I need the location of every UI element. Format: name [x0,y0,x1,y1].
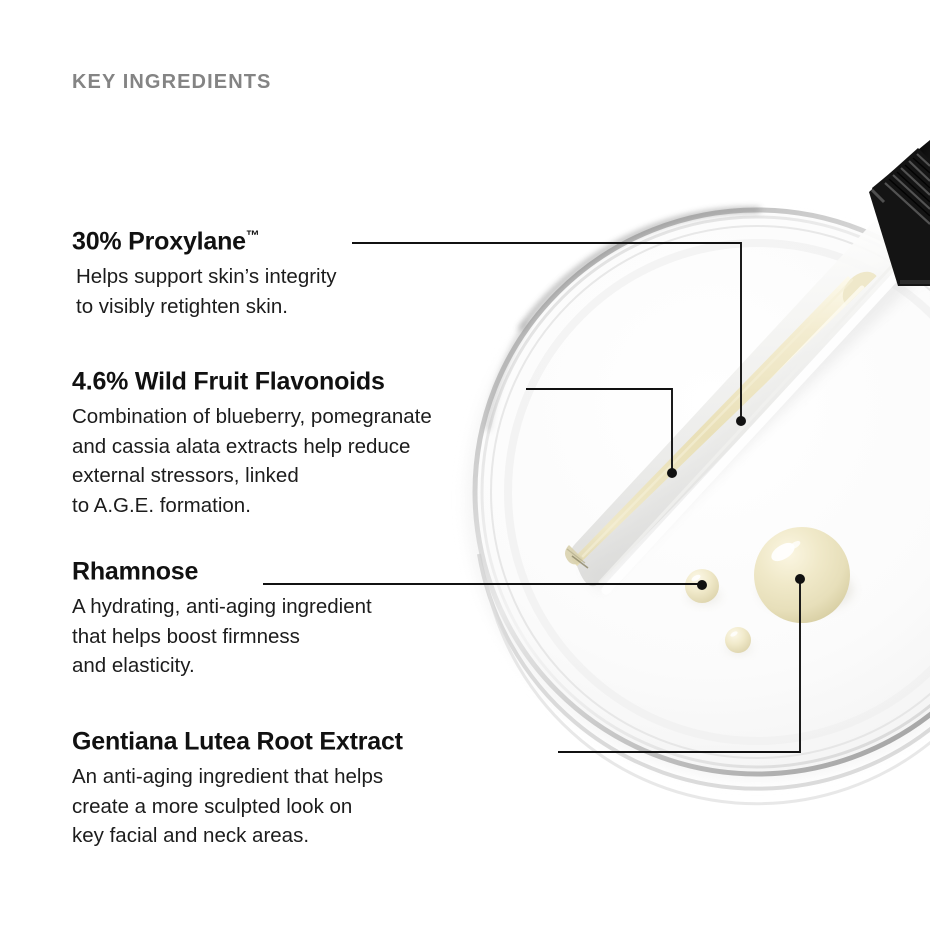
ingredient-title-proxylane: 30% Proxylane™ [72,228,337,256]
ingredient-title-text: Rhamnose [72,557,198,585]
ingredient-description-wild-fruit-flavonoids: Combination of blueberry, pomegranate an… [72,402,432,521]
trademark-symbol: ™ [246,228,260,243]
leader-dot-proxylane [736,416,746,426]
leader-dot-gentiana [795,574,805,584]
ingredient-title-wild-fruit-flavonoids: 4.6% Wild Fruit Flavonoids [72,368,432,396]
ingredient-description-proxylane: Helps support skin’s integrity to visibl… [76,262,337,321]
leader-dot-flavonoids [667,468,677,478]
page-title: KEY INGREDIENTS [72,71,272,94]
ingredient-description-gentiana-lutea-root-extract: An anti-aging ingredient that helps crea… [72,762,403,851]
ingredient-title-gentiana-lutea-root-extract: Gentiana Lutea Root Extract [72,728,403,756]
ingredient-description-rhamnose: A hydrating, anti-aging ingredient that … [72,592,372,681]
ingredient-block-proxylane: 30% Proxylane™ Helps support skin’s inte… [72,228,337,321]
ingredient-block-gentiana-lutea-root-extract: Gentiana Lutea Root Extract An anti-agin… [72,728,403,851]
leader-dot-rhamnose [697,580,707,590]
ingredient-title-rhamnose: Rhamnose [72,558,372,586]
leader-line-gentiana [558,582,800,752]
ingredient-title-text: 30% Proxylane [72,227,246,255]
ingredient-block-wild-fruit-flavonoids: 4.6% Wild Fruit Flavonoids Combination o… [72,368,432,521]
ingredient-title-text: 4.6% Wild Fruit Flavonoids [72,367,385,395]
leader-line-flavonoids [526,389,672,470]
ingredient-block-rhamnose: Rhamnose A hydrating, anti-aging ingredi… [72,558,372,681]
ingredient-title-text: Gentiana Lutea Root Extract [72,727,403,755]
key-ingredients-infographic: KEY INGREDIENTS 30% Proxylane™ Helps sup… [0,0,930,930]
